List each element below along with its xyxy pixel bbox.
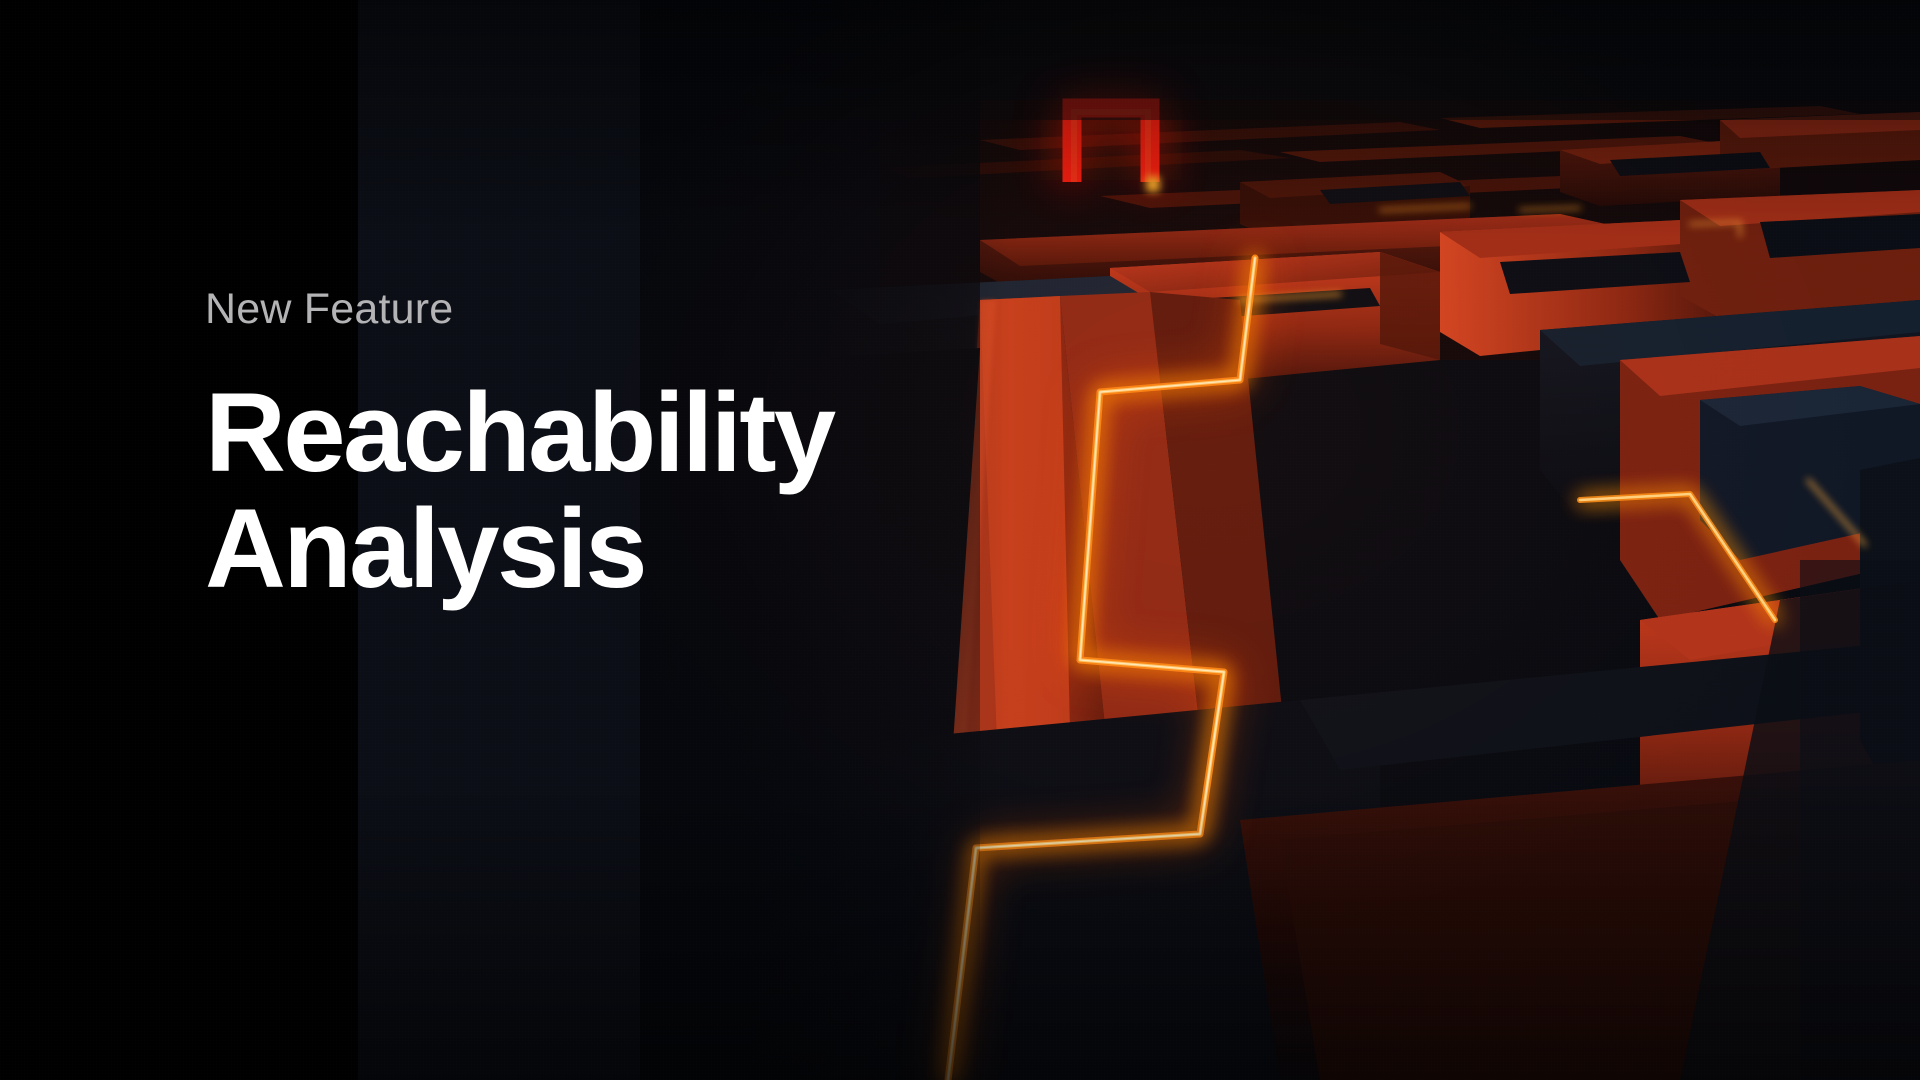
page-title: Reachability Analysis — [205, 375, 834, 608]
page-title-line-2: Analysis — [205, 491, 834, 607]
hero-copy: New Feature Reachability Analysis — [205, 288, 834, 608]
hero-banner: New Feature Reachability Analysis — [0, 0, 1920, 1080]
eyebrow-label: New Feature — [205, 288, 834, 331]
page-title-line-1: Reachability — [205, 375, 834, 491]
maze-artwork — [680, 0, 1920, 1080]
